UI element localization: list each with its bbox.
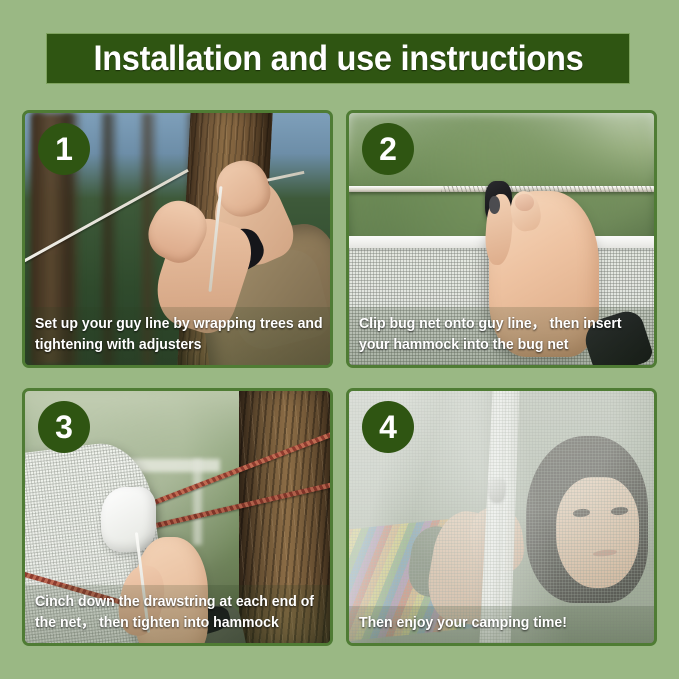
step-panel-2: 2 Clip bug net onto guy line， then inser… <box>346 110 657 368</box>
step-panel-4: 4 Then enjoy your camping time! <box>346 388 657 646</box>
step-number-3: 3 <box>55 411 73 443</box>
background-fence-post-right <box>193 459 202 545</box>
step-badge-1: 1 <box>38 123 90 175</box>
caption-line: Clip bug net onto guy line， then insert <box>359 314 635 335</box>
instruction-infographic: Installation and use instructions <box>0 0 679 679</box>
step-panel-3: 3 Cinch down the drawstring at each end … <box>22 388 333 646</box>
step-badge-4: 4 <box>362 401 414 453</box>
step-4-caption: Then enjoy your camping time! <box>349 606 654 643</box>
step-panel-1: 1 Set up your guy line by wrapping trees… <box>22 110 333 368</box>
caption-line: Set up your guy line by wrapping trees a… <box>35 314 311 335</box>
step-badge-2: 2 <box>362 123 414 175</box>
caption-line: tightening with adjusters <box>35 335 311 356</box>
caption-line: Cinch down the drawstring at each end of <box>35 592 311 613</box>
caption-line: the net， then tighten into hammock <box>35 613 311 634</box>
clip-hole <box>489 196 499 214</box>
caption-line: Then enjoy your camping time! <box>359 613 635 634</box>
cinched-net-end <box>101 487 156 553</box>
step-2-caption: Clip bug net onto guy line， then insert … <box>349 307 654 365</box>
step-1-caption: Set up your guy line by wrapping trees a… <box>25 307 330 365</box>
step-number-2: 2 <box>379 133 397 165</box>
step-number-4: 4 <box>379 411 397 443</box>
page-title-banner: Installation and use instructions <box>46 33 630 84</box>
caption-line: your hammock into the bug net <box>359 335 635 356</box>
step-badge-3: 3 <box>38 401 90 453</box>
step-3-caption: Cinch down the drawstring at each end of… <box>25 585 330 643</box>
thumb-nail <box>515 194 533 212</box>
step-number-1: 1 <box>55 133 73 165</box>
page-title: Installation and use instructions <box>93 39 583 79</box>
steps-grid: 1 Set up your guy line by wrapping trees… <box>22 110 657 646</box>
